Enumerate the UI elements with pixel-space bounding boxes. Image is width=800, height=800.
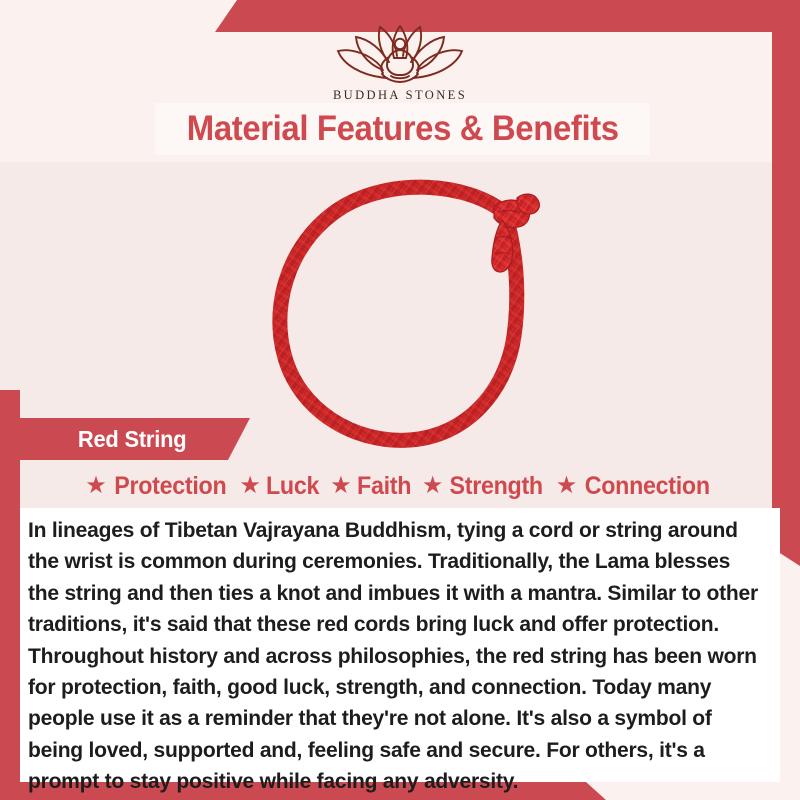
decorative-left-red-strip: [0, 390, 20, 800]
benefit-item: ★ Strength: [422, 472, 547, 501]
benefit-item: ★ Protection: [85, 472, 230, 501]
page-title: Material Features & Benefits: [187, 109, 619, 149]
benefit-item: ★ Faith: [330, 472, 413, 501]
benefit-label: Protection: [114, 472, 226, 501]
star-icon: ★: [330, 474, 352, 498]
star-icon: ★: [239, 474, 261, 498]
material-features-infographic: BUDDHA STONES Material Features & Benefi…: [0, 0, 800, 800]
brand-logo: BUDDHA STONES: [0, 18, 800, 103]
material-label-banner: Red String: [20, 418, 250, 460]
benefit-label: Connection: [585, 472, 710, 501]
description-panel: In lineages of Tibetan Vajrayana Buddhis…: [20, 508, 780, 782]
material-label: Red String: [78, 426, 187, 453]
benefit-item: ★ Luck: [239, 472, 321, 501]
benefits-list: ★ Protection ★ Luck ★ Faith ★ Strength ★…: [0, 466, 800, 506]
star-icon: ★: [85, 474, 107, 498]
description-text: In lineages of Tibetan Vajrayana Buddhis…: [28, 514, 761, 797]
benefit-label: Faith: [357, 472, 411, 501]
title-plate: Material Features & Benefits: [155, 103, 650, 155]
star-icon: ★: [422, 474, 444, 498]
lotus-meditation-icon: [0, 18, 800, 86]
product-image-red-string-bracelet: [262, 168, 562, 460]
benefit-item: ★ Connection: [556, 472, 715, 501]
benefit-label: Strength: [450, 472, 543, 501]
brand-name: BUDDHA STONES: [0, 88, 800, 103]
benefit-label: Luck: [266, 472, 319, 501]
star-icon: ★: [556, 474, 578, 498]
